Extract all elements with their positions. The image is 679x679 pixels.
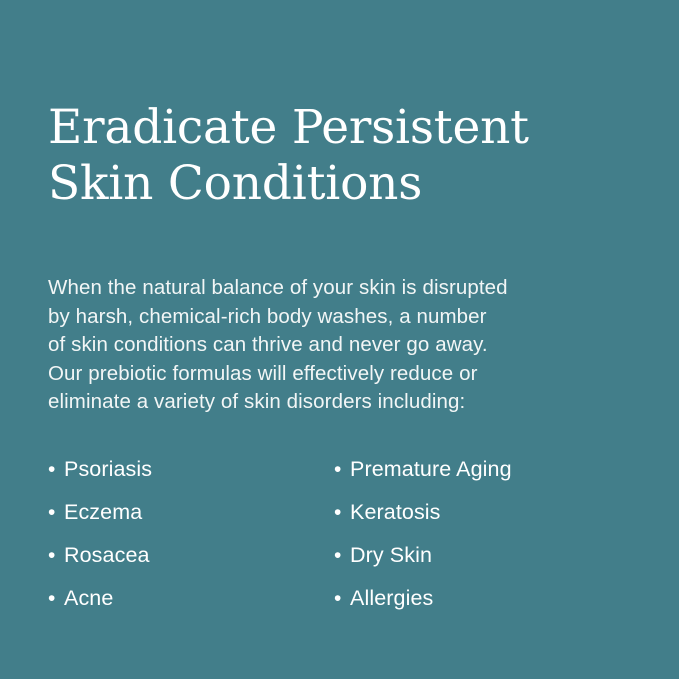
bullet-icon: •	[48, 492, 64, 534]
bullet-icon: •	[48, 449, 64, 491]
bullet-icon: •	[334, 492, 350, 534]
list-item-label: Rosacea	[64, 534, 150, 576]
body-paragraph-line-3: of skin conditions can thrive and never …	[48, 331, 618, 360]
list-item-label: Psoriasis	[64, 448, 152, 490]
body-paragraph: When the natural balance of your skin is…	[48, 274, 618, 417]
list-item-label: Eczema	[64, 491, 142, 533]
list-item: • Eczema	[48, 491, 334, 534]
conditions-lists: • Psoriasis • Eczema • Rosacea • Acne • …	[48, 448, 628, 620]
bullet-icon: •	[334, 449, 350, 491]
list-item: • Premature Aging	[334, 448, 628, 491]
page-title-line-1: Eradicate Persistent	[48, 100, 648, 156]
list-item: • Rosacea	[48, 534, 334, 577]
list-item-label: Allergies	[350, 577, 433, 619]
bullet-icon: •	[334, 578, 350, 620]
promo-card: Eradicate Persistent Skin Conditions Whe…	[0, 0, 679, 679]
bullet-icon: •	[334, 535, 350, 577]
conditions-list-right: • Premature Aging • Keratosis • Dry Skin…	[334, 448, 628, 620]
list-item: • Keratosis	[334, 491, 628, 534]
page-title-line-2: Skin Conditions	[48, 156, 648, 212]
conditions-list-left: • Psoriasis • Eczema • Rosacea • Acne	[48, 448, 334, 620]
list-item-label: Premature Aging	[350, 448, 512, 490]
body-paragraph-line-5: eliminate a variety of skin disorders in…	[48, 388, 618, 417]
bullet-icon: •	[48, 578, 64, 620]
list-item-label: Keratosis	[350, 491, 441, 533]
page-title: Eradicate Persistent Skin Conditions	[48, 100, 648, 212]
bullet-icon: •	[48, 535, 64, 577]
list-item: • Psoriasis	[48, 448, 334, 491]
list-item-label: Dry Skin	[350, 534, 432, 576]
list-item-label: Acne	[64, 577, 113, 619]
list-item: • Acne	[48, 577, 334, 620]
body-paragraph-line-4: Our prebiotic formulas will effectively …	[48, 360, 618, 389]
body-paragraph-line-1: When the natural balance of your skin is…	[48, 274, 618, 303]
list-item: • Dry Skin	[334, 534, 628, 577]
body-paragraph-line-2: by harsh, chemical-rich body washes, a n…	[48, 303, 618, 332]
list-item: • Allergies	[334, 577, 628, 620]
